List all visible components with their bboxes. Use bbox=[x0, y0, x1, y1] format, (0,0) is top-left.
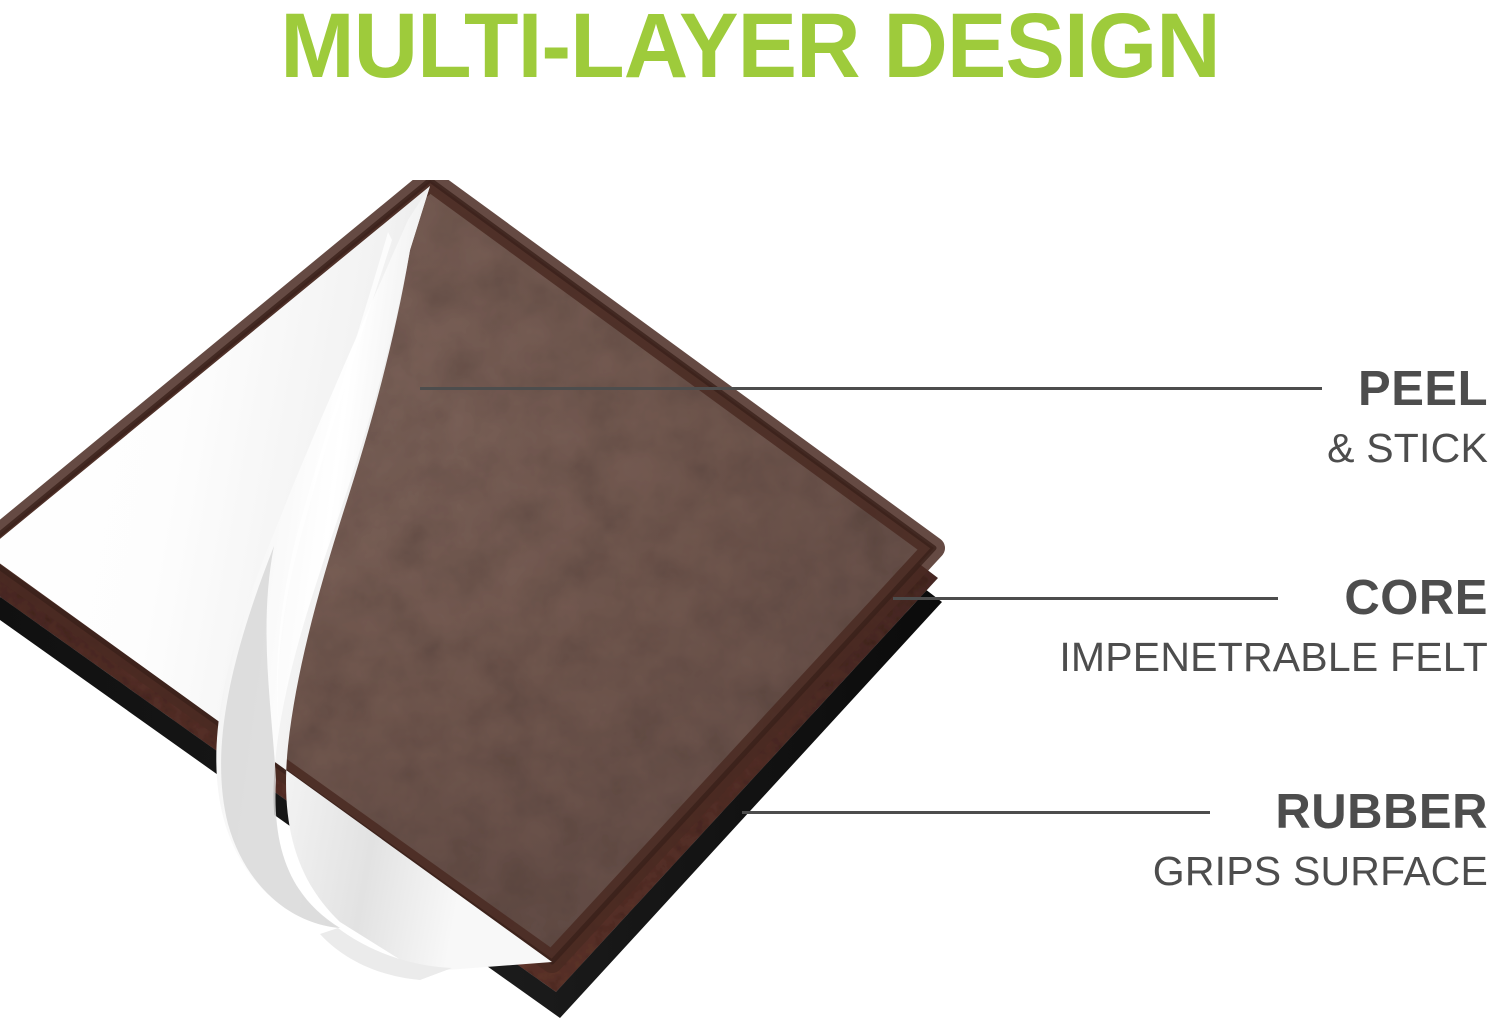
callout-core-headline: CORE bbox=[1059, 572, 1488, 624]
rubber-leader-line bbox=[742, 811, 1210, 814]
callout-rubber-headline: RUBBER bbox=[1153, 786, 1488, 838]
callout-rubber-subtext: GRIPS SURFACE bbox=[1153, 846, 1488, 896]
infographic-canvas: MULTI-LAYER DESIGN bbox=[0, 0, 1500, 1028]
callout-peel-subtext: & STICK bbox=[1327, 423, 1488, 473]
peel-leader-line bbox=[420, 387, 1322, 390]
callout-core-subtext: IMPENETRABLE FELT bbox=[1059, 632, 1488, 682]
callout-core: CORE IMPENETRABLE FELT bbox=[1059, 572, 1488, 682]
pad-diagram bbox=[0, 180, 1000, 1028]
callout-rubber: RUBBER GRIPS SURFACE bbox=[1153, 786, 1488, 896]
page-title: MULTI-LAYER DESIGN bbox=[23, 0, 1478, 98]
product-illustration bbox=[0, 180, 1000, 1028]
callout-peel: PEEL & STICK bbox=[1327, 363, 1488, 473]
callout-peel-headline: PEEL bbox=[1327, 363, 1488, 415]
